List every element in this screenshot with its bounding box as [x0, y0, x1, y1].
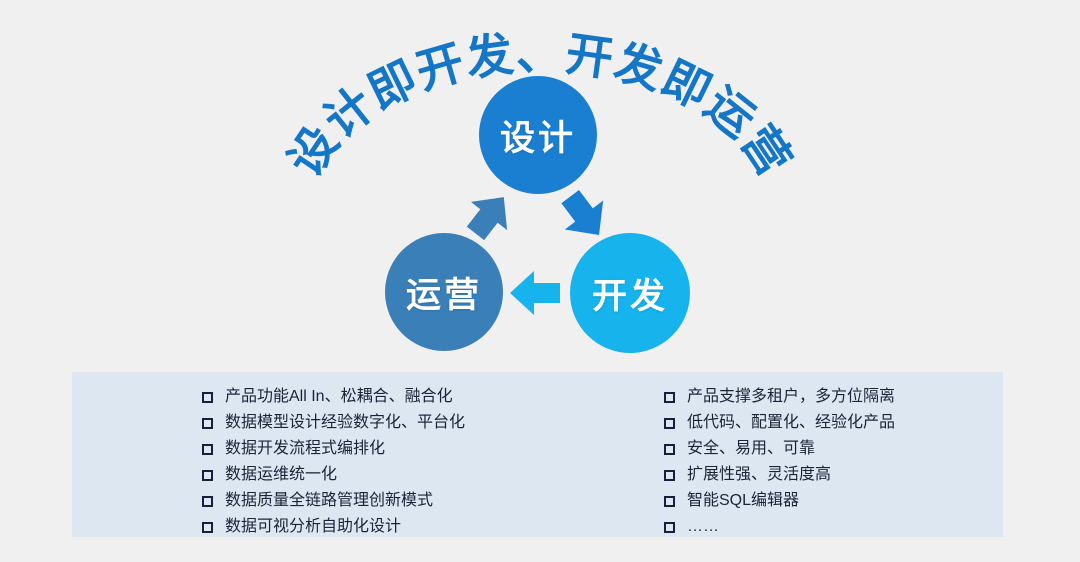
cycle-node-dev[interactable]: 开发: [570, 233, 690, 353]
square-bullet-icon: [664, 470, 675, 481]
list-item: 数据可视分析自助化设计: [202, 515, 492, 539]
arrow-up-right-icon: [462, 190, 516, 242]
square-bullet-icon: [202, 418, 213, 429]
square-bullet-icon: [202, 496, 213, 507]
list-item: 数据开发流程式编排化: [202, 437, 492, 461]
list-item: 产品支撑多租户，多方位隔离: [664, 385, 912, 409]
cycle-node-design-label: 设计: [500, 110, 576, 161]
list-item: 扩展性强、灵活度高: [664, 463, 912, 487]
feature-column-right: 产品支撑多租户，多方位隔离 低代码、配置化、经验化产品 安全、易用、可靠 扩展性…: [492, 372, 912, 537]
list-item: 低代码、配置化、经验化产品: [664, 411, 912, 435]
list-item: 数据质量全链路管理创新模式: [202, 489, 492, 513]
square-bullet-icon: [664, 444, 675, 455]
slide-canvas: 设计即开发、开发即运营 设计 运营 开发: [0, 0, 1080, 562]
arrow-left-icon: [508, 268, 564, 318]
square-bullet-icon: [664, 392, 675, 403]
square-bullet-icon: [202, 522, 213, 533]
list-item: 数据模型设计经验数字化、平台化: [202, 411, 492, 435]
square-bullet-icon: [202, 470, 213, 481]
list-item: 产品功能All In、松耦合、融合化: [202, 385, 492, 409]
square-bullet-icon: [664, 418, 675, 429]
square-bullet-icon: [664, 496, 675, 507]
cycle-node-dev-label: 开发: [592, 268, 668, 319]
feature-column-left: 产品功能All In、松耦合、融合化 数据模型设计经验数字化、平台化 数据开发流…: [72, 372, 492, 537]
list-item: 数据运维统一化: [202, 463, 492, 487]
arrow-down-right-icon: [556, 188, 612, 242]
cycle-node-ops[interactable]: 运营: [385, 233, 503, 351]
square-bullet-icon: [202, 392, 213, 403]
square-bullet-icon: [202, 444, 213, 455]
cycle-node-design[interactable]: 设计: [479, 76, 597, 194]
feature-list-panel: 产品功能All In、松耦合、融合化 数据模型设计经验数字化、平台化 数据开发流…: [72, 372, 1003, 537]
square-bullet-icon: [664, 522, 675, 533]
cycle-node-ops-label: 运营: [406, 267, 482, 318]
list-item: 安全、易用、可靠: [664, 437, 912, 461]
list-item: 智能SQL编辑器: [664, 489, 912, 513]
list-item: ……: [664, 515, 912, 539]
